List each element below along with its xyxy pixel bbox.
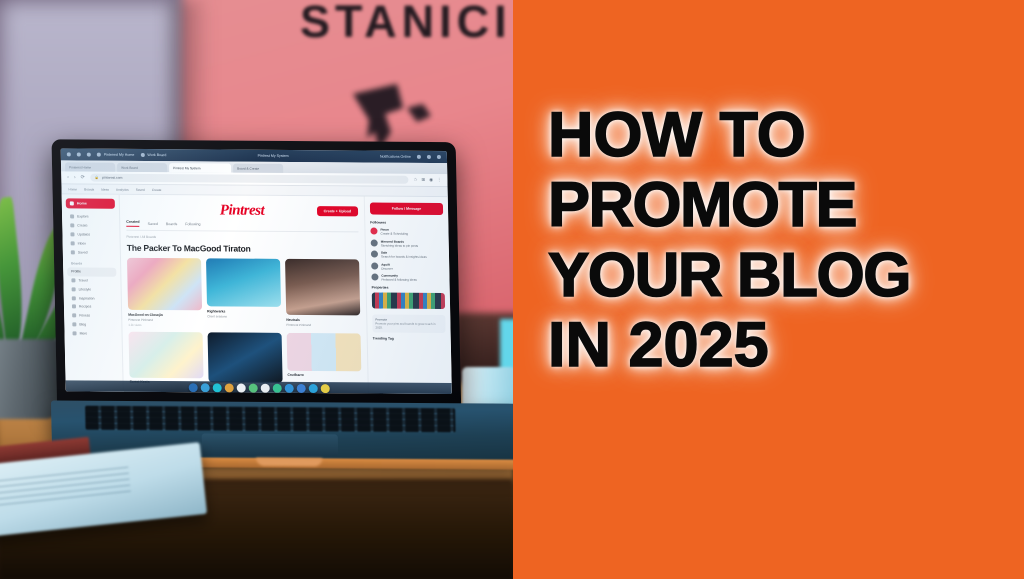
sidebar-item-saved[interactable]: Saved	[67, 248, 116, 257]
pin-thumbnail	[285, 259, 360, 316]
browser-tab-active[interactable]: Pintrest My System	[169, 163, 231, 172]
dock-icon-maps[interactable]	[296, 384, 305, 393]
sidebar-item-lifestyle[interactable]: Lifestyle	[68, 285, 117, 294]
sidebar-item-travel[interactable]: Travel	[67, 276, 116, 285]
sidebar-item-fitness[interactable]: Fitness	[68, 311, 117, 320]
dock-icon-finder[interactable]	[188, 383, 197, 392]
control-center-icon[interactable]	[427, 155, 431, 159]
headline-line-4: IN 2025	[548, 314, 1018, 376]
pin-thumbnail	[127, 258, 202, 311]
breadcrumb: Pinterest / All Boards	[126, 235, 358, 241]
os-app-name: Pinterest My Home	[104, 153, 135, 157]
folder-icon	[72, 287, 76, 291]
sidebar-item-more[interactable]: More	[68, 329, 117, 338]
os-secondary-label: Work Board	[147, 153, 166, 157]
bookmark-star-icon[interactable]: ☆	[413, 177, 417, 183]
app-tabs: Created Saved Boards Following	[126, 220, 358, 233]
headline-line-1: HOW TO	[548, 104, 1018, 166]
promo-banner[interactable]	[372, 292, 445, 309]
sidebar-item-label: Saved	[78, 250, 88, 254]
pin-card[interactable]: Neutrals Pinterest Pinbrand	[285, 259, 360, 328]
sidebar-section-header: Boards	[67, 256, 116, 267]
pin-card[interactable]: MacGood on Closejin Pinterest Pinbrand 1…	[127, 258, 202, 327]
folder-icon	[72, 305, 76, 309]
bookmark-item[interactable]: Boards	[84, 187, 94, 191]
pin-subtitle: Client seasons	[207, 314, 281, 319]
right-list-item[interactable]: PinonCreate & Scheduling	[370, 228, 443, 237]
folder-icon	[71, 278, 75, 282]
bookmark-item[interactable]: Saved	[136, 187, 145, 191]
dock-icon-calendar[interactable]	[272, 384, 281, 393]
sidebar-item-label: Recipes	[79, 305, 91, 309]
bell-icon	[70, 232, 74, 236]
browser-icon	[97, 153, 101, 157]
poster-title: STANICI	[300, 0, 512, 48]
workspace-photo: STANICI	[0, 0, 513, 579]
pin-subtitle: Pinterest Pinbrand	[128, 317, 202, 322]
bookmark-item[interactable]: Create	[152, 187, 162, 191]
profile-icon[interactable]: ◉	[429, 177, 433, 183]
sidebar-item-blog[interactable]: Blog	[68, 320, 117, 329]
tab-following[interactable]: Following	[185, 222, 200, 226]
dock-icon-settings[interactable]	[308, 384, 317, 393]
sidebar-item-profile[interactable]: Profile	[67, 267, 116, 276]
pin-thumbnail	[206, 258, 281, 307]
sidebar-home-button[interactable]: Home	[66, 198, 115, 208]
pin-thumbnail	[208, 332, 283, 383]
follow-message-button[interactable]: Follow / Message	[370, 203, 443, 216]
right-item-sub: Search for boards & insights ideas	[381, 255, 427, 259]
pin-title: Neutrals	[286, 317, 360, 322]
browser-tab[interactable]: Work Board	[117, 163, 167, 172]
reload-icon[interactable]: ⟳	[81, 175, 85, 181]
right-item-sub: Pinboard & following ideas	[381, 278, 416, 282]
laptop-trackpad	[202, 434, 339, 457]
right-list-item[interactable]: AquiltDiscover	[371, 262, 444, 271]
promote-note-body: Promote your pins and boards to grow rea…	[375, 322, 435, 330]
app-main: Pintrest Create + Upload Created Saved B…	[120, 195, 368, 394]
envelope-icon	[71, 241, 75, 245]
followers-heading: Followers	[370, 221, 443, 226]
os-status-right: Notifications Online	[380, 155, 411, 159]
right-item-sub: Sketching ideas to pin posts	[381, 243, 418, 247]
sidebar-item-label: Fitness	[79, 314, 90, 318]
pin-meta: 1.2k views	[128, 322, 202, 327]
clock-icon	[437, 155, 441, 159]
right-item-sub: Discover	[381, 266, 393, 270]
trending-heading: Trending Tag	[373, 337, 446, 342]
tab-saved[interactable]: Saved	[148, 221, 158, 225]
promote-note: Promote Promote your pins and boards to …	[372, 314, 445, 333]
laptop-screen: Pinterest My Home Work Board Pintrest My…	[61, 148, 452, 394]
right-list-item[interactable]: CommunityPinboard & following ideas	[371, 274, 444, 283]
dock-icon-mail[interactable]	[284, 384, 293, 393]
sidebar-item-updates[interactable]: Updates	[66, 230, 115, 239]
grey-dot-icon	[371, 262, 378, 269]
app-brand-row: Pintrest Create + Upload	[126, 200, 359, 222]
grey-dot-icon	[371, 239, 378, 246]
grey-dot-icon	[371, 274, 378, 281]
sidebar-item-label: Updates	[77, 232, 90, 236]
dock-icon-photos[interactable]	[236, 384, 245, 393]
right-list-item[interactable]: SaleSearch for boards & insights ideas	[371, 251, 444, 260]
sidebar-item-recipes[interactable]: Recipes	[68, 302, 117, 311]
pin-thumbnail	[129, 331, 204, 378]
pinterest-app: Home Explore Create	[62, 194, 452, 394]
pin-subtitle: Pinterest Pinbrand	[286, 323, 360, 328]
window-icon	[140, 153, 144, 157]
red-dot-icon	[370, 228, 377, 235]
poster-canvas: STANICI	[0, 0, 1024, 579]
dock-icon-music[interactable]	[260, 384, 269, 393]
battery-icon[interactable]	[87, 153, 91, 157]
dock-icon-messages[interactable]	[212, 383, 221, 392]
folder-icon	[72, 296, 76, 300]
pin-title: MacGood on Closejin	[128, 312, 202, 317]
pin-grid: MacGood on Closejin Pinterest Pinbrand 1…	[127, 258, 363, 394]
create-upload-button[interactable]: Create + Upload	[316, 206, 358, 216]
title-panel: HOW TO PROMOTE YOUR BLOG IN 2025	[513, 0, 1024, 579]
grey-dot-icon	[371, 251, 378, 258]
browser-tab[interactable]: Board & Create	[233, 164, 283, 173]
search-icon[interactable]	[417, 155, 421, 159]
lock-icon: 🔒	[95, 176, 99, 180]
sidebar-item-label: Explore	[77, 215, 89, 219]
pin-title: Rightwarks	[207, 309, 281, 314]
headline-block: HOW TO PROMOTE YOUR BLOG IN 2025	[548, 104, 1018, 384]
bookmark-item[interactable]: Analytics	[116, 187, 129, 191]
extensions-icon[interactable]: ⊞	[421, 177, 425, 183]
laptop: Pinterest My Home Work Board Pintrest My…	[52, 135, 513, 475]
compass-icon	[70, 215, 74, 219]
back-icon[interactable]: ‹	[67, 174, 69, 180]
pin-title: Crudbarre	[287, 373, 361, 378]
folder-icon	[72, 322, 76, 326]
sidebar-item-label: Inspiration	[79, 296, 95, 300]
dock-icon-notes[interactable]	[224, 383, 233, 392]
right-item-sub: Create & Scheduling	[380, 232, 408, 236]
app-logo: Pintrest	[220, 202, 265, 219]
pin-thumbnail	[287, 333, 362, 372]
os-window-title: Pintrest My System	[258, 154, 289, 158]
sidebar-home-label: Home	[77, 201, 87, 205]
wifi-icon[interactable]	[77, 152, 81, 156]
address-bar[interactable]: 🔒 pinterest.com	[90, 174, 409, 184]
sidebar-item-create[interactable]: Create	[66, 221, 115, 230]
os-dock	[66, 380, 452, 394]
pin-icon	[71, 250, 75, 254]
sidebar-item-explore[interactable]: Explore	[66, 212, 115, 221]
laptop-front-notch	[256, 458, 322, 466]
folder-icon	[72, 314, 76, 318]
headline-line-3: YOUR BLOG	[548, 245, 1018, 306]
properties-heading: Properties	[372, 285, 445, 290]
bookmark-item[interactable]: Ideas	[101, 187, 109, 191]
app-sidebar: Home Explore Create	[62, 194, 124, 393]
browser-tab[interactable]: Pinterest Home	[65, 162, 115, 171]
sidebar-item-label: Blog	[79, 322, 86, 326]
app-right-panel: Follow / Message Followers PinonCreate &…	[364, 196, 452, 394]
url-text: pinterest.com	[102, 176, 122, 180]
sidebar-item-label: Travel	[78, 279, 87, 283]
ellipsis-icon	[73, 331, 77, 335]
laptop-lid: Pinterest My Home Work Board Pintrest My…	[51, 139, 461, 407]
dock-icon-safari[interactable]	[200, 383, 209, 392]
dock-icon-files[interactable]	[320, 384, 329, 393]
home-icon	[70, 201, 74, 205]
sidebar-item-label: Inbox	[78, 241, 86, 245]
tab-boards[interactable]: Boards	[166, 222, 177, 226]
sidebar-item-inspiration[interactable]: Inspiration	[68, 294, 117, 303]
sidebar-item-label: Create	[77, 224, 87, 228]
right-list-item[interactable]: Mirrored BoardsSketching ideas to pin po…	[371, 239, 444, 248]
sidebar-item-label: More	[80, 331, 88, 335]
laptop-keys	[85, 406, 456, 433]
dock-icon-facetime[interactable]	[248, 384, 257, 393]
pin-card[interactable]: Rightwarks Client seasons	[206, 258, 281, 327]
sidebar-item-label: Lifestyle	[79, 287, 92, 291]
sidebar-item-label: Profile	[71, 270, 81, 274]
headline-line-2: PROMOTE	[548, 174, 1018, 236]
tab-created[interactable]: Created	[126, 220, 140, 227]
page-title: The Packer To MacGood Tiraton	[127, 243, 359, 255]
sidebar-item-inbox[interactable]: Inbox	[67, 239, 116, 248]
plus-icon	[70, 224, 74, 228]
forward-icon[interactable]: ›	[74, 174, 76, 180]
menu-icon[interactable]: ⋮	[437, 177, 442, 183]
apple-menu-icon[interactable]	[67, 152, 71, 156]
bookmark-item[interactable]: Home	[68, 187, 77, 191]
